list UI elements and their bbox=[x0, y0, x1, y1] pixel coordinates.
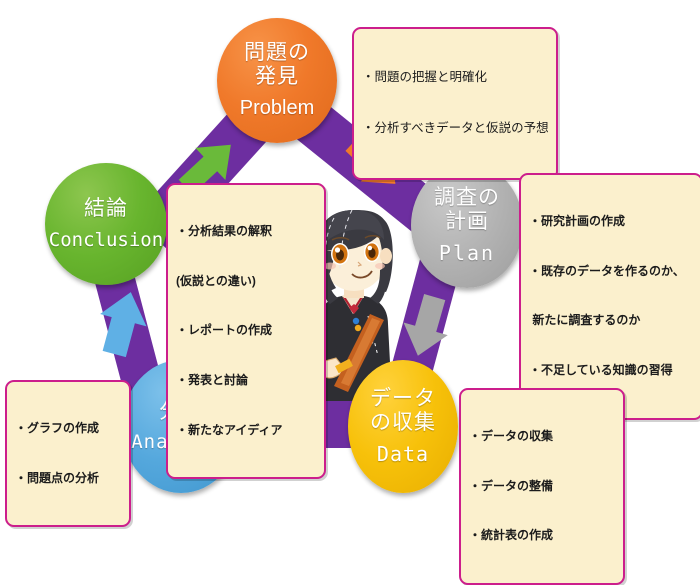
callout-analysis-line-1: ・グラフの作成 bbox=[15, 420, 121, 437]
callout-analysis: ・グラフの作成 ・問題点の分析 bbox=[5, 380, 131, 527]
callout-analysis-line-2: ・問題点の分析 bbox=[15, 470, 121, 487]
callout-conclusion-line-3: ・レポートの作成 bbox=[176, 322, 316, 339]
diagram-canvas: 問題の 発見 Problem 調査の 計画 Plan データ の収集 Data … bbox=[0, 0, 700, 510]
node-conclusion-jp-line1: 結論 bbox=[84, 197, 128, 221]
node-plan-jp-line2: 計画 bbox=[445, 210, 489, 234]
callout-data-line-3: ・統計表の作成 bbox=[469, 527, 615, 544]
callout-data-line-2: ・データの整備 bbox=[469, 478, 615, 495]
callout-plan-line-1: ・研究計画の作成 bbox=[529, 213, 693, 230]
node-conclusion-en: Conclusion bbox=[49, 230, 163, 251]
node-data-en: Data bbox=[377, 443, 429, 465]
callout-plan-line-3: 新たに調査するのか bbox=[529, 312, 693, 329]
callout-problem-line-2: ・分析すべきデータと仮説の予想 bbox=[362, 120, 548, 137]
callout-conclusion-line-5: ・新たなアイディア bbox=[176, 422, 316, 439]
callout-conclusion-line-1: ・分析結果の解釈 bbox=[176, 223, 316, 240]
node-plan[interactable]: 調査の 計画 Plan bbox=[411, 163, 523, 288]
callout-conclusion: ・分析結果の解釈 (仮説との違い) ・レポートの作成 ・発表と討論 ・新たなアイ… bbox=[166, 183, 326, 479]
callout-plan-line-2: ・既存のデータを作るのか、 bbox=[529, 263, 693, 280]
callout-conclusion-line-4: ・発表と討論 bbox=[176, 372, 316, 389]
callout-plan: ・研究計画の作成 ・既存のデータを作るのか、 新たに調査するのか ・不足している… bbox=[519, 173, 700, 420]
node-plan-en: Plan bbox=[439, 242, 495, 264]
node-problem-jp-line2: 発見 bbox=[255, 65, 299, 89]
node-conclusion[interactable]: 結論 Conclusion bbox=[45, 163, 167, 285]
callout-problem: ・問題の把握と明確化 ・分析すべきデータと仮説の予想 bbox=[352, 27, 558, 180]
callout-data-line-1: ・データの収集 bbox=[469, 428, 615, 445]
callout-problem-line-1: ・問題の把握と明確化 bbox=[362, 69, 548, 86]
node-problem-jp-line1: 問題の bbox=[244, 41, 310, 65]
node-problem-en: Problem bbox=[240, 97, 314, 119]
callout-plan-line-4: ・不足している知識の習得 bbox=[529, 362, 693, 379]
node-problem[interactable]: 問題の 発見 Problem bbox=[217, 18, 337, 143]
node-data[interactable]: データ の収集 Data bbox=[348, 360, 458, 493]
node-data-jp-line2: の収集 bbox=[370, 411, 436, 435]
node-plan-jp-line1: 調査の bbox=[434, 186, 500, 210]
node-data-jp-line1: データ bbox=[370, 387, 436, 411]
callout-data: ・データの収集 ・データの整備 ・統計表の作成 bbox=[459, 388, 625, 585]
callout-conclusion-line-2: (仮説との違い) bbox=[176, 273, 316, 290]
